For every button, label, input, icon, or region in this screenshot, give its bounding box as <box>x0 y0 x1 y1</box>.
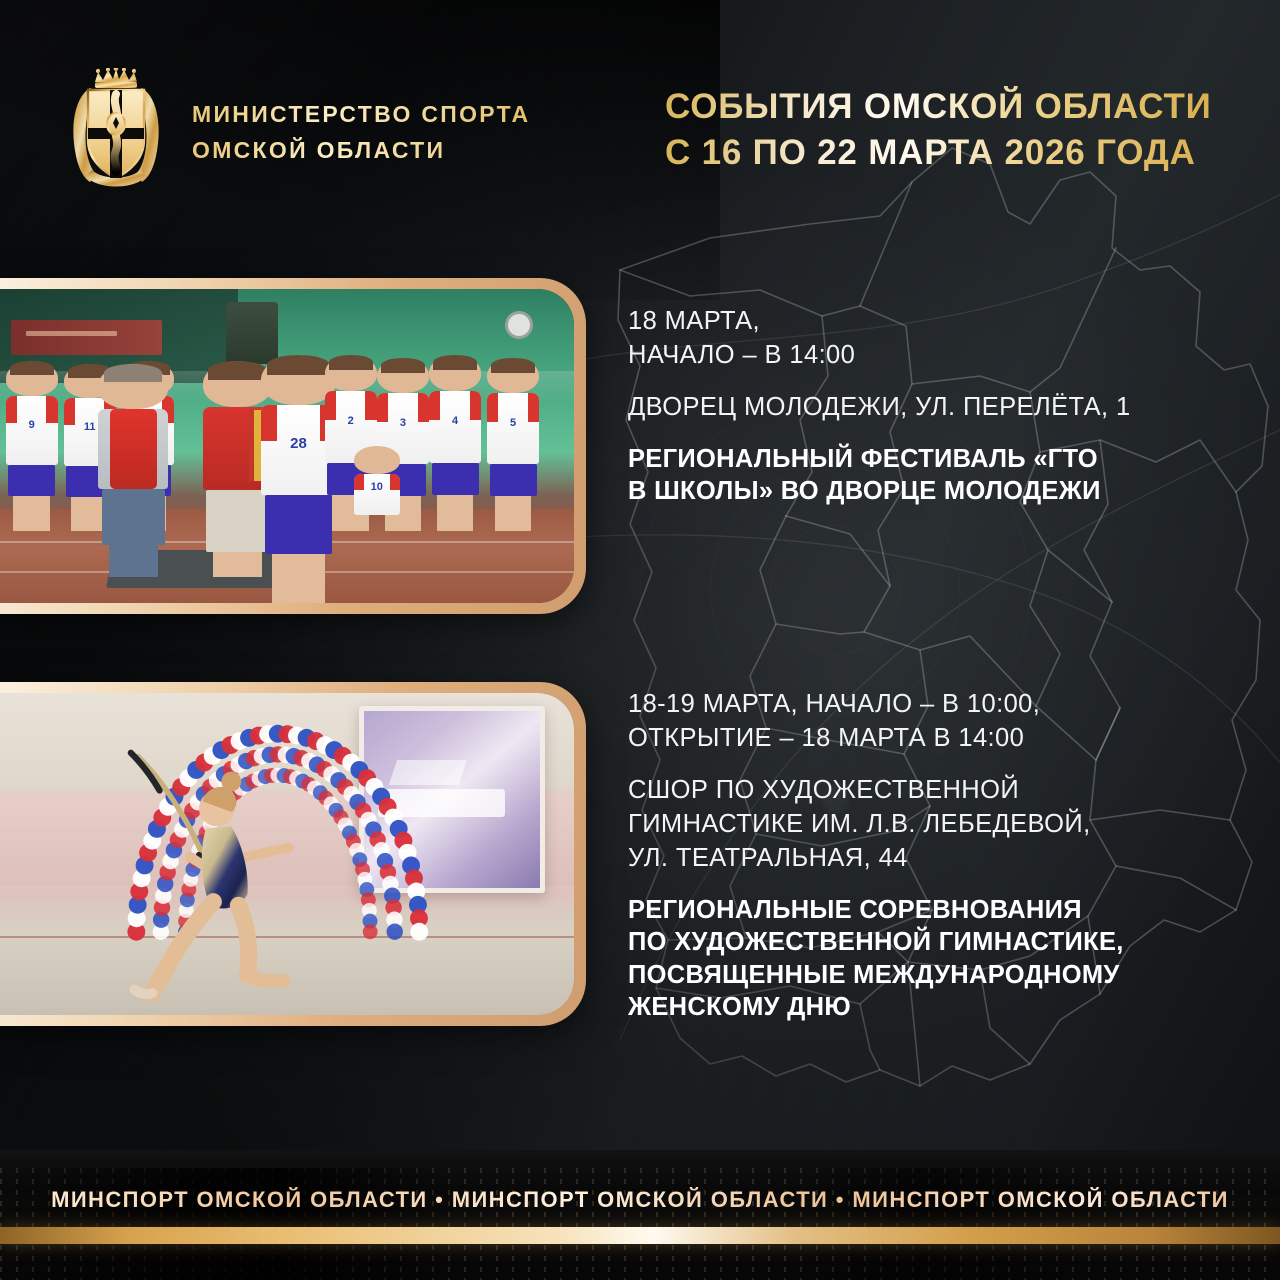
event-1-datetime-line-1: 18 МАРТА, <box>628 305 1131 339</box>
event-2-title: РЕГИОНАЛЬНЫЕ СОРЕВНОВАНИЯ ПО ХУДОЖЕСТВЕН… <box>628 894 1124 1025</box>
footer: МИНСПОРТ ОМСКОЙ ОБЛАСТИ • МИНСПОРТ ОМСКО… <box>0 1150 1280 1280</box>
ministry-name-line-1: МИНИСТЕРСТВО СПОРТА <box>192 101 530 128</box>
event-1-venue-line-1: ДВОРЕЦ МОЛОДЕЖИ, УЛ. ПЕРЕЛЁТА, 1 <box>628 391 1131 425</box>
event-photo-card-1: 9 11 1 <box>0 278 586 614</box>
event-item-1: 18 МАРТА, НАЧАЛО – В 14:00 ДВОРЕЦ МОЛОДЕ… <box>628 305 1131 508</box>
event-photo-gto-festival: 9 11 1 <box>0 289 574 603</box>
event-2-venue-line-2: ГИМНАСТИКЕ ИМ. Л.В. ЛЕБЕДЕВОЙ, <box>628 808 1124 842</box>
footer-ticker: МИНСПОРТ ОМСКОЙ ОБЛАСТИ • МИНСПОРТ ОМСКО… <box>0 1180 1280 1220</box>
footer-ticker-text: МИНСПОРТ ОМСКОЙ ОБЛАСТИ • МИНСПОРТ ОМСКО… <box>51 1187 1229 1213</box>
event-1-title-line-2: В ШКОЛЫ» ВО ДВОРЦЕ МОЛОДЕЖИ <box>628 475 1131 508</box>
event-2-title-line-3: ПОСВЯЩЕННЫЕ МЕЖДУНАРОДНОМУ <box>628 959 1124 992</box>
event-2-venue-line-1: СШОР ПО ХУДОЖЕСТВЕННОЙ <box>628 774 1124 808</box>
header: МИНИСТЕРСТВО СПОРТА ОМСКОЙ ОБЛАСТИ СОБЫТ… <box>0 0 1280 230</box>
omsk-coat-of-arms-icon <box>62 68 170 190</box>
page-title: СОБЫТИЯ ОМСКОЙ ОБЛАСТИ С 16 ПО 22 МАРТА … <box>665 84 1212 176</box>
event-2-title-line-4: ЖЕНСКОМУ ДНЮ <box>628 991 1124 1024</box>
event-2-datetime-line-2: ОТКРЫТИЕ – 18 МАРТА В 14:00 <box>628 722 1124 756</box>
event-1-title-line-1: РЕГИОНАЛЬНЫЙ ФЕСТИВАЛЬ «ГТО <box>628 443 1131 476</box>
event-2-title-line-1: РЕГИОНАЛЬНЫЕ СОРЕВНОВАНИЯ <box>628 894 1124 927</box>
gymnast-figure-icon <box>75 751 330 1002</box>
event-item-2: 18-19 МАРТА, НАЧАЛО – В 10:00, ОТКРЫТИЕ … <box>628 688 1124 1024</box>
ministry-brand: МИНИСТЕРСТВО СПОРТА ОМСКОЙ ОБЛАСТИ <box>62 68 530 190</box>
footer-gold-divider <box>0 1227 1280 1244</box>
event-2-title-line-2: ПО ХУДОЖЕСТВЕННОЙ ГИМНАСТИКЕ, <box>628 926 1124 959</box>
event-photo-rhythmic-gymnastics <box>0 693 574 1015</box>
event-2-venue-line-3: УЛ. ТЕАТРАЛЬНАЯ, 44 <box>628 842 1124 876</box>
page-title-line-1: СОБЫТИЯ ОМСКОЙ ОБЛАСТИ <box>665 84 1212 130</box>
event-1-title: РЕГИОНАЛЬНЫЙ ФЕСТИВАЛЬ «ГТО В ШКОЛЫ» ВО … <box>628 443 1131 508</box>
event-1-datetime-line-2: НАЧАЛО – В 14:00 <box>628 339 1131 373</box>
event-2-datetime-line-1: 18-19 МАРТА, НАЧАЛО – В 10:00, <box>628 688 1124 722</box>
ministry-name-line-2: ОМСКОЙ ОБЛАСТИ <box>192 137 530 164</box>
page-title-line-2: С 16 ПО 22 МАРТА 2026 ГОДА <box>665 130 1212 176</box>
event-photo-card-2 <box>0 682 586 1026</box>
poster-root: МИНИСТЕРСТВО СПОРТА ОМСКОЙ ОБЛАСТИ СОБЫТ… <box>0 0 1280 1280</box>
